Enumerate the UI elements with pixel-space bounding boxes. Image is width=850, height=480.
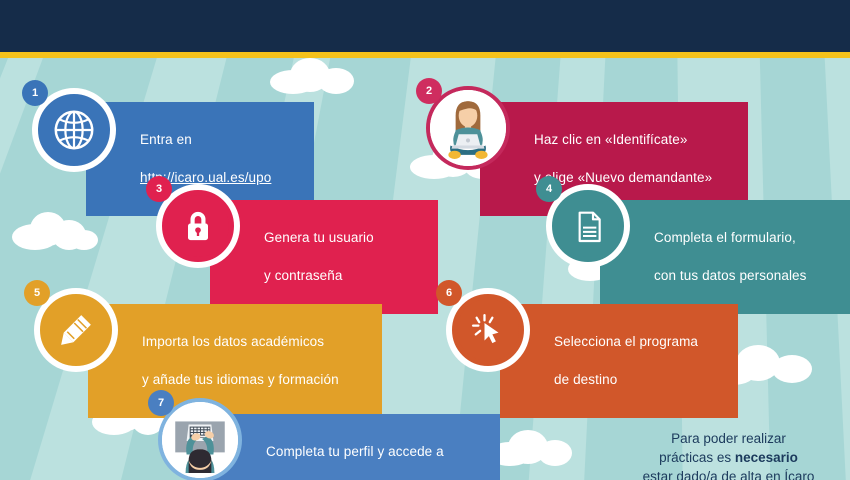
cloud-bottom-center <box>488 430 578 464</box>
step-5-line-1: Importa los datos académicos <box>142 332 366 351</box>
step-7-number: 7 <box>148 390 174 416</box>
step-1[interactable]: Entra en http://icaro.ual.es/upo 1 <box>24 82 314 178</box>
step-5-line-2: y añade tus idiomas y formación <box>142 370 366 389</box>
step-1-line-1: Entra en <box>140 130 298 149</box>
step-1-number: 1 <box>22 80 48 106</box>
pencil-icon <box>55 309 97 351</box>
step-6-line-2: de destino <box>554 370 722 389</box>
footnote-line-2-bold: necesario <box>735 450 798 465</box>
step-4[interactable]: Completa el formulario, con tus datos pe… <box>538 178 838 274</box>
step-7-banner: Completa tu perfil y accede a todas las … <box>212 414 500 480</box>
footnote-line-3: estar dado/a de alta en Ícaro <box>621 467 836 480</box>
step-6-banner: Selecciona el programa de destino <box>500 304 738 418</box>
footnote-line-2-pre: prácticas es <box>659 450 735 465</box>
step-7-line-1: Completa tu perfil y accede a <box>266 442 484 461</box>
step-3-line-1: Genera tu usuario <box>264 228 422 247</box>
step-5-number: 5 <box>24 280 50 306</box>
step-4-line-1: Completa el formulario, <box>654 228 834 247</box>
step-3-number: 3 <box>146 176 172 202</box>
header-accent-stripe <box>0 52 850 58</box>
step-7[interactable]: Completa tu perfil y accede a todas las … <box>150 392 500 480</box>
step-4-number: 4 <box>536 176 562 202</box>
desk-laptop-icon <box>167 407 233 473</box>
header-bar <box>0 0 850 52</box>
globe-icon <box>51 107 97 153</box>
step-3[interactable]: Genera tu usuario y contraseña 3 <box>148 178 448 274</box>
step-6[interactable]: Selecciona el programa de destino 6 <box>438 282 738 378</box>
step-2[interactable]: Haz clic en «Identifícate» y elige «Nuev… <box>418 80 748 176</box>
lock-icon <box>178 206 218 246</box>
step-5[interactable]: Importa los datos académicos y añade tus… <box>26 282 356 378</box>
person-laptop-icon <box>435 95 501 161</box>
footnote: Para poder realizar prácticas es necesar… <box>621 429 836 480</box>
step-2-number: 2 <box>416 78 442 104</box>
cursor-click-icon <box>467 309 509 351</box>
step-2-line-1: Haz clic en «Identifícate» <box>534 130 732 149</box>
footnote-line-2: prácticas es necesario <box>621 448 836 467</box>
cloud-left-upper <box>12 210 100 250</box>
step-6-line-1: Selecciona el programa <box>554 332 722 351</box>
footnote-line-1: Para poder realizar <box>621 429 836 448</box>
step-6-number: 6 <box>436 280 462 306</box>
document-icon <box>568 206 608 246</box>
